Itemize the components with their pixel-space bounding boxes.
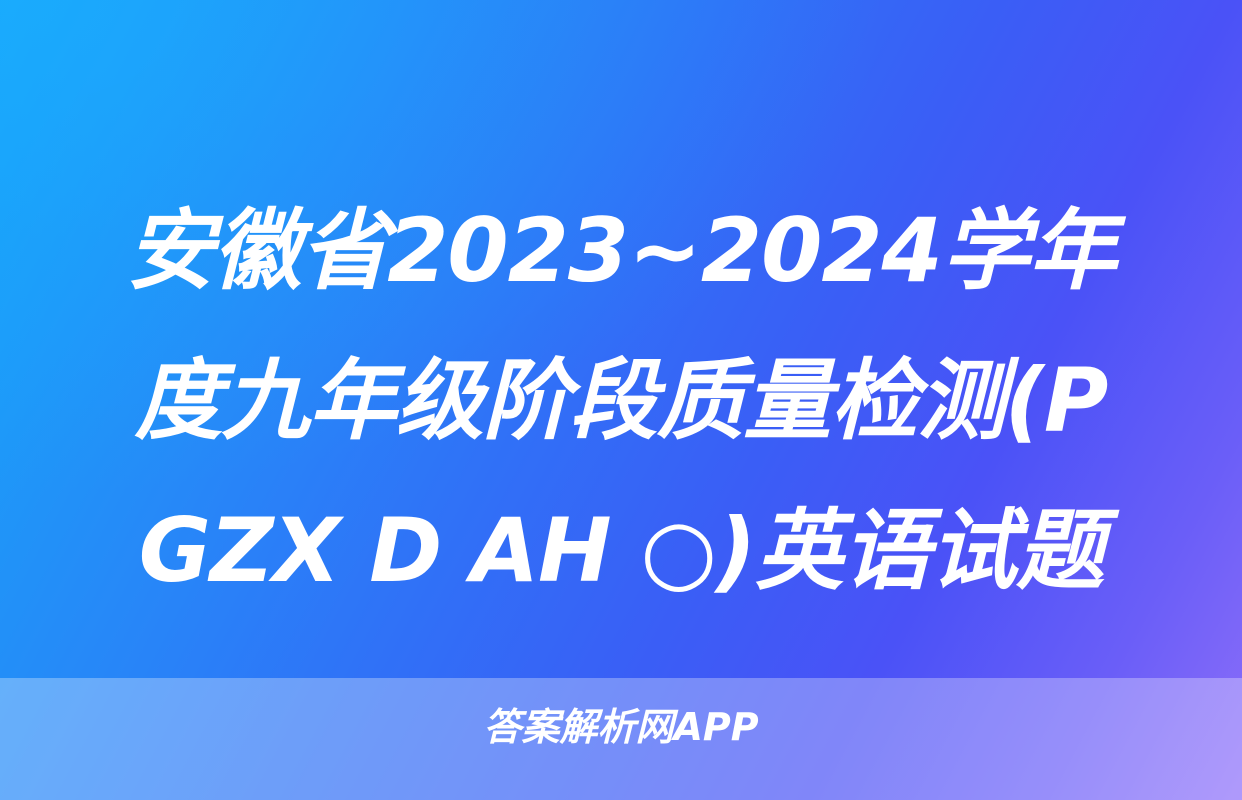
title-line-1: 安徽省2023~2024学年	[60, 176, 1182, 326]
app-watermark: 答案解析网APP	[483, 708, 758, 746]
footer-band: 答案解析网APP	[0, 678, 1242, 800]
title-line-2: 度九年级阶段质量检测(P	[60, 326, 1182, 476]
page-title: 安徽省2023~2024学年 度九年级阶段质量检测(P GZX D AH ○)英…	[0, 176, 1242, 626]
title-card: 安徽省2023~2024学年 度九年级阶段质量检测(P GZX D AH ○)英…	[0, 0, 1242, 800]
title-line-3: GZX D AH ○)英语试题	[60, 476, 1182, 626]
